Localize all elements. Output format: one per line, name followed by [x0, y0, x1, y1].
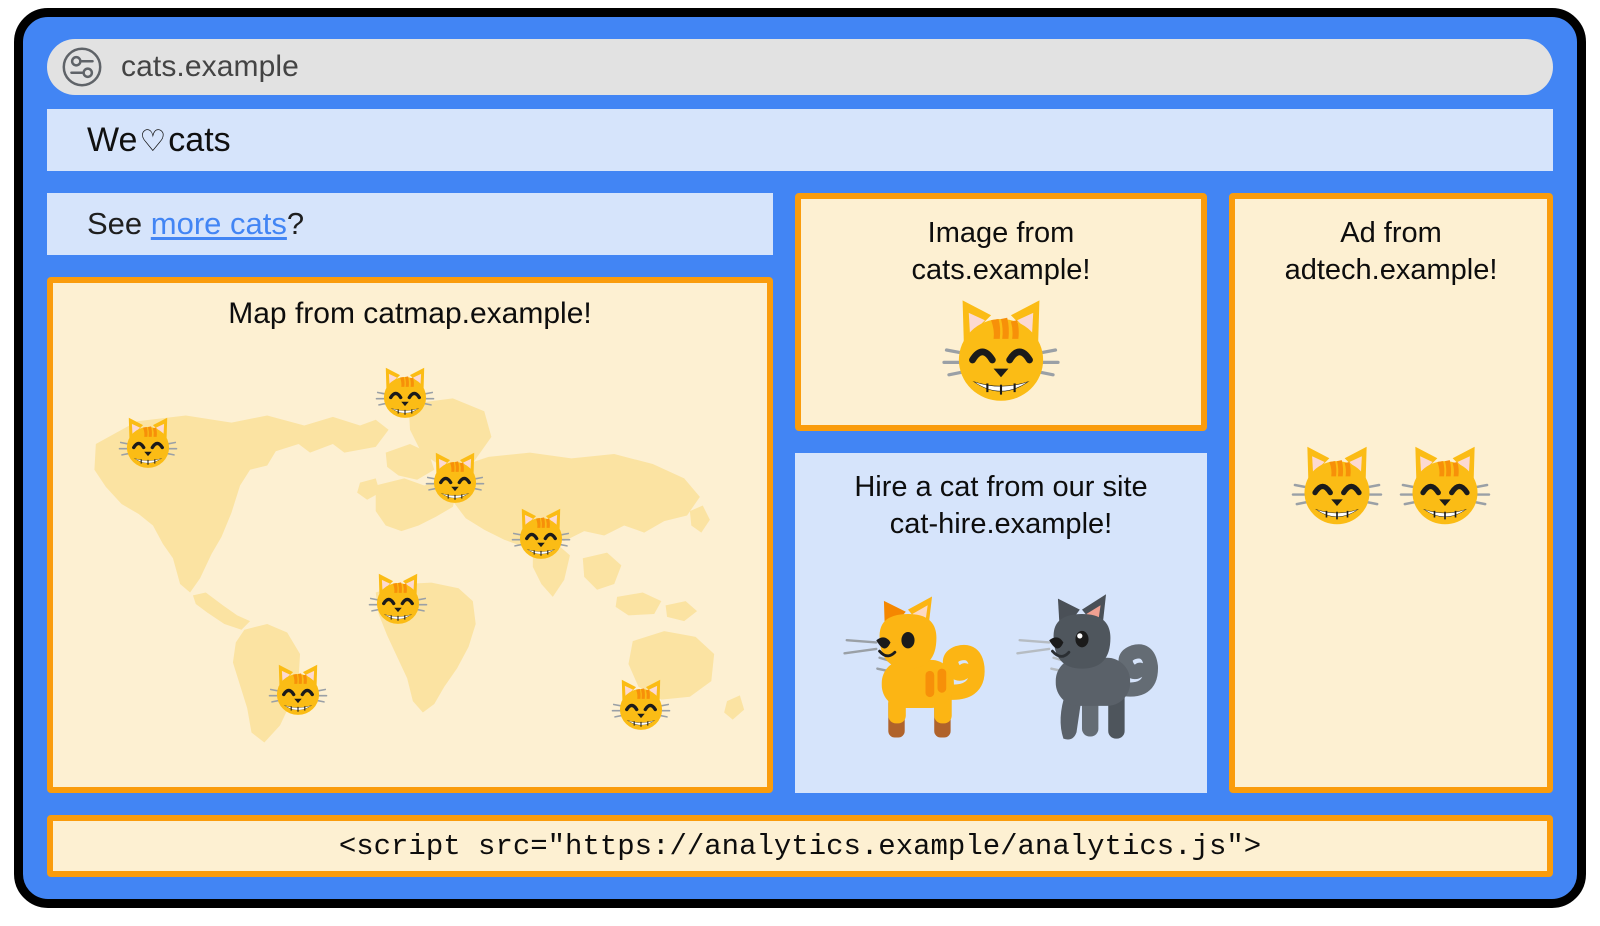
grinning-cat-face-icon	[117, 414, 179, 471]
middle-column: Image from cats.example! Hire a cat from…	[795, 193, 1207, 793]
grinning-cat-face-icon	[1289, 441, 1385, 529]
grinning-cat-face-icon	[510, 505, 572, 562]
grinning-cat-face-icon	[1397, 441, 1493, 529]
page-content: We♡cats See more cats? Map from catmap.e…	[47, 95, 1553, 877]
map-marker-eastern-europe[interactable]	[424, 449, 486, 511]
link-prefix: See	[87, 206, 151, 241]
more-cats-strip: See more cats?	[47, 193, 773, 255]
left-column: See more cats? Map from catmap.example!	[47, 193, 773, 793]
grinning-cat-face-icon	[267, 661, 329, 718]
image-card-title: Image from cats.example!	[912, 199, 1091, 289]
more-cats-link[interactable]: more cats	[151, 206, 287, 241]
hire-card: Hire a cat from our site cat-hire.exampl…	[795, 453, 1207, 793]
map-marker-central-asia[interactable]	[510, 505, 572, 567]
ad-card: Ad from adtech.example!	[1229, 193, 1553, 793]
map-marker-north-america[interactable]	[117, 414, 179, 476]
hire-card-title: Hire a cat from our site cat-hire.exampl…	[854, 453, 1147, 543]
heart-icon: ♡	[137, 125, 168, 158]
orange-cat-icon	[840, 579, 988, 743]
right-column: Ad from adtech.example!	[1229, 193, 1553, 793]
map-marker-australia[interactable]	[610, 676, 672, 738]
grinning-cat-face-icon	[939, 293, 1063, 407]
browser-window: cats.example We♡cats See more cats? Map …	[14, 8, 1586, 908]
image-card: Image from cats.example!	[795, 193, 1207, 431]
content-columns: See more cats? Map from catmap.example!	[47, 193, 1553, 793]
hero-text: We♡cats	[87, 121, 231, 160]
hero-banner: We♡cats	[47, 109, 1553, 171]
ad-card-cats	[1289, 441, 1493, 529]
hero-text-before: We	[87, 121, 137, 159]
grinning-cat-face-icon	[374, 364, 436, 421]
map-card-title: Map from catmap.example!	[53, 283, 767, 333]
ad-card-title: Ad from adtech.example!	[1285, 199, 1498, 289]
grinning-cat-face-icon	[424, 449, 486, 506]
map-marker-africa[interactable]	[367, 570, 429, 632]
url-bar[interactable]: cats.example	[47, 39, 1553, 95]
grey-cat-icon	[1014, 579, 1162, 743]
analytics-script-code: <script src="https://analytics.example/a…	[339, 830, 1261, 863]
url-text[interactable]: cats.example	[121, 50, 299, 84]
more-cats-text: See more cats?	[87, 206, 304, 242]
grinning-cat-face-icon	[367, 570, 429, 627]
map-marker-south-america[interactable]	[267, 661, 329, 723]
analytics-script-bar: <script src="https://analytics.example/a…	[47, 815, 1553, 877]
hire-card-cats	[840, 579, 1162, 743]
tune-icon[interactable]	[59, 44, 105, 90]
hero-text-after: cats	[168, 121, 230, 159]
map-card: Map from catmap.example!	[47, 277, 773, 793]
grinning-cat-face-icon	[610, 676, 672, 733]
map-marker-northern-europe[interactable]	[374, 364, 436, 426]
link-suffix: ?	[287, 206, 304, 241]
